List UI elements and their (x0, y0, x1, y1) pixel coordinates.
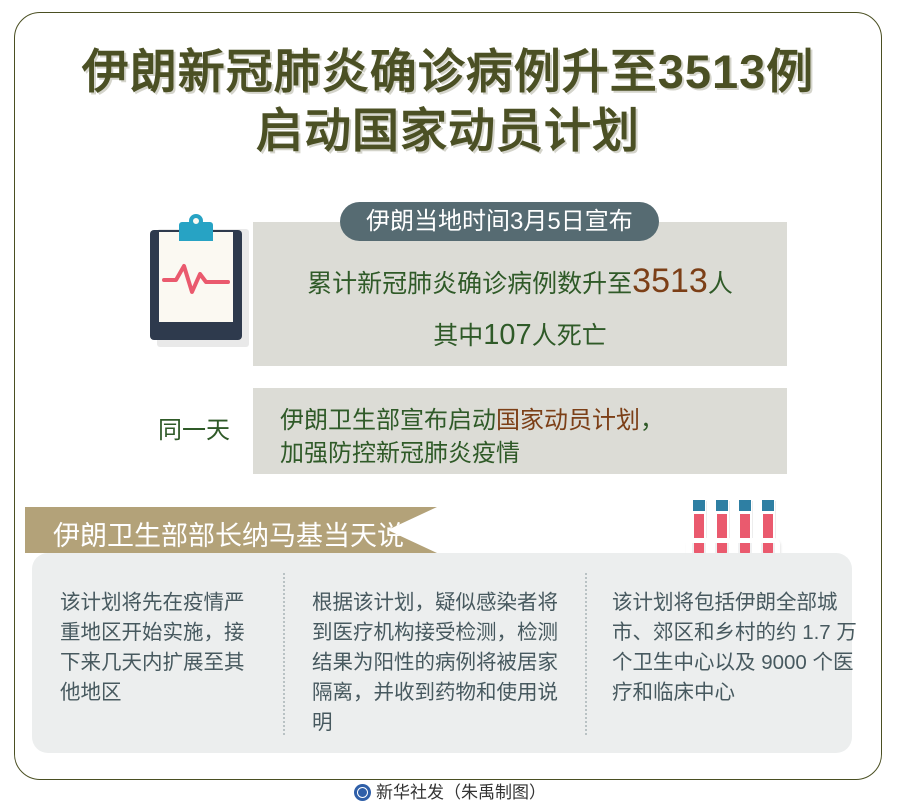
tube-cap (716, 500, 728, 511)
column-divider (585, 573, 587, 735)
minister-quote-banner: 伊朗卫生部部长纳马基当天说 (25, 507, 437, 553)
deaths-suffix: 人死亡 (532, 322, 607, 350)
mobilization-block: 伊朗卫生部宣布启动国家动员计划， 加强防控新冠肺炎疫情 (253, 388, 787, 474)
infographic-page: 伊朗新冠肺炎确诊病例升至3513例 启动国家动员计划 伊朗当地时间3月5日宣布 … (0, 0, 900, 810)
detail-column-3: 该计划将包括伊朗全部城市、郊区和乡村的约 1.7 万个卫生中心以及 9000 个… (612, 588, 858, 708)
title-line-1: 伊朗新冠肺炎确诊病例升至3513例 (82, 45, 815, 98)
clipboard-clip-ring (189, 214, 203, 228)
tube-cap (693, 500, 705, 511)
minister-quote-banner-label: 伊朗卫生部部长纳马基当天说 (53, 514, 404, 553)
clipboard-heartbeat-icon (150, 222, 242, 340)
confirmed-cases-prefix: 累计新冠肺炎确诊病例数升至 (307, 270, 632, 298)
detail-column-2: 根据该计划，疑似感染者将到医疗机构接受检测，检测结果为阳性的病例将被居家隔离，并… (312, 588, 574, 738)
confirmed-cases-suffix: 人 (708, 270, 733, 298)
deaths-prefix: 其中 (433, 322, 483, 350)
xinhua-logo-icon (354, 784, 371, 801)
title-line-2: 启动国家动员计划 (14, 101, 882, 160)
confirmed-cases-line: 累计新冠肺炎确诊病例数升至3513人 (253, 262, 787, 301)
mobilization-line-1: 伊朗卫生部宣布启动国家动员计划， (280, 400, 664, 435)
deaths-line: 其中107人死亡 (253, 316, 787, 352)
mobilization-highlight: 国家动员计划 (496, 407, 640, 434)
footer-credit: 新华社发（朱禹制图） (0, 778, 900, 803)
date-badge: 伊朗当地时间3月5日宣布 (340, 202, 659, 241)
mobilization-prefix: 伊朗卫生部宣布启动 (280, 407, 496, 434)
column-divider (283, 573, 285, 735)
detail-column-1: 该计划将先在疫情严重地区开始实施，接下来几天内扩展至其他地区 (60, 588, 260, 708)
tube-cap (739, 500, 751, 511)
deaths-number: 107 (483, 319, 531, 351)
tube-cap (762, 500, 774, 511)
confirmed-cases-number: 3513 (632, 262, 708, 300)
mobilization-suffix: ， (640, 407, 664, 434)
same-day-label: 同一天 (158, 410, 230, 445)
footer-credit-text: 新华社发（朱禹制图） (376, 783, 546, 802)
page-title: 伊朗新冠肺炎确诊病例升至3513例 启动国家动员计划 (14, 42, 882, 160)
date-badge-label: 伊朗当地时间3月5日宣布 (366, 208, 633, 235)
mobilization-line-2: 加强防控新冠肺炎疫情 (280, 433, 520, 468)
heartbeat-line-icon (162, 260, 230, 296)
